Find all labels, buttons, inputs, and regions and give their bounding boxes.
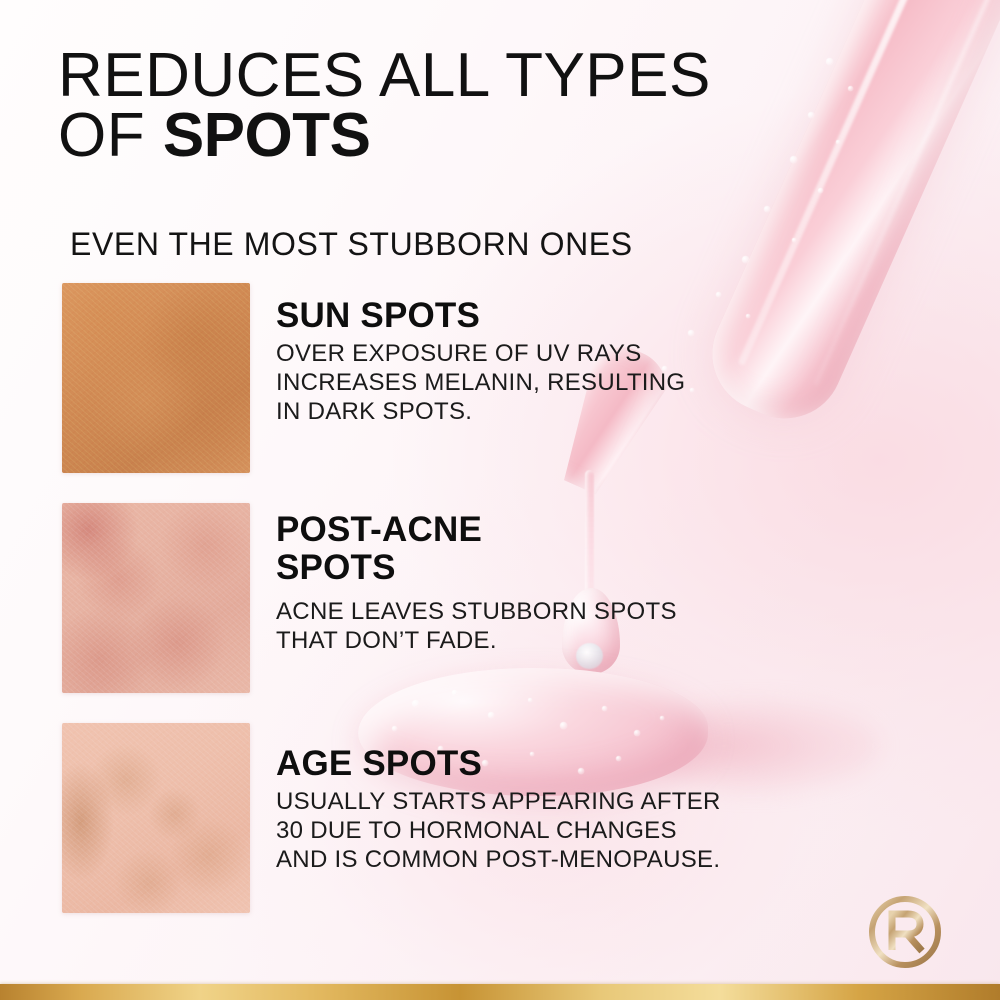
bubble-icon	[690, 388, 694, 392]
bubble-icon	[660, 716, 664, 720]
bubble-icon	[826, 58, 833, 65]
spot-type-description: USUALLY STARTS APPEARING AFTER 30 DUE TO…	[276, 787, 721, 874]
sun-spots-skin-swatch	[62, 283, 250, 473]
brand-logo	[866, 893, 944, 971]
spot-type-item: POST-ACNE SPOTS ACNE LEAVES STUBBORN SPO…	[62, 503, 677, 693]
bubble-icon	[764, 206, 770, 212]
bubble-icon	[602, 706, 607, 711]
bubble-icon	[488, 712, 494, 718]
headline-line-1: REDUCES ALL TYPES	[58, 41, 711, 110]
bubble-icon	[808, 112, 814, 118]
spot-type-description: OVER EXPOSURE OF UV RAYS INCREASES MELAN…	[276, 339, 685, 426]
bubble-icon	[848, 86, 853, 91]
logo-letter-r-icon	[892, 914, 922, 951]
spot-type-text: SUN SPOTS OVER EXPOSURE OF UV RAYS INCRE…	[276, 283, 685, 426]
bubble-icon	[528, 698, 532, 702]
spot-type-item: AGE SPOTS USUALLY STARTS APPEARING AFTER…	[62, 723, 721, 913]
bubble-icon	[792, 238, 796, 242]
bubble-icon	[836, 140, 840, 144]
post-acne-skin-swatch	[62, 503, 250, 693]
page-title: REDUCES ALL TYPES OF SPOTS	[58, 46, 798, 166]
bubble-icon	[716, 292, 721, 297]
gold-footer-bar	[0, 984, 1000, 1000]
subheadline: EVEN THE MOST STUBBORN ONES	[70, 226, 633, 263]
spot-type-title: POST-ACNE SPOTS	[276, 511, 677, 587]
bubble-icon	[818, 188, 823, 193]
spot-type-title: AGE SPOTS	[276, 745, 721, 783]
ad-creative-canvas: REDUCES ALL TYPES OF SPOTS EVEN THE MOST…	[0, 0, 1000, 1000]
bubble-icon	[742, 256, 749, 263]
bubble-icon	[688, 330, 694, 336]
spot-type-description: ACNE LEAVES STUBBORN SPOTS THAT DON’T FA…	[276, 597, 677, 655]
spot-type-text: POST-ACNE SPOTS ACNE LEAVES STUBBORN SPO…	[276, 503, 677, 655]
headline-line-2-bold: SPOTS	[163, 101, 371, 170]
bubble-icon	[412, 700, 419, 707]
spot-type-item: SUN SPOTS OVER EXPOSURE OF UV RAYS INCRE…	[62, 283, 685, 473]
age-spots-skin-swatch	[62, 723, 250, 913]
headline-line-2-light: OF	[58, 101, 163, 170]
spot-type-title: SUN SPOTS	[276, 297, 685, 335]
spot-type-text: AGE SPOTS USUALLY STARTS APPEARING AFTER…	[276, 723, 721, 874]
bubble-icon	[746, 314, 750, 318]
